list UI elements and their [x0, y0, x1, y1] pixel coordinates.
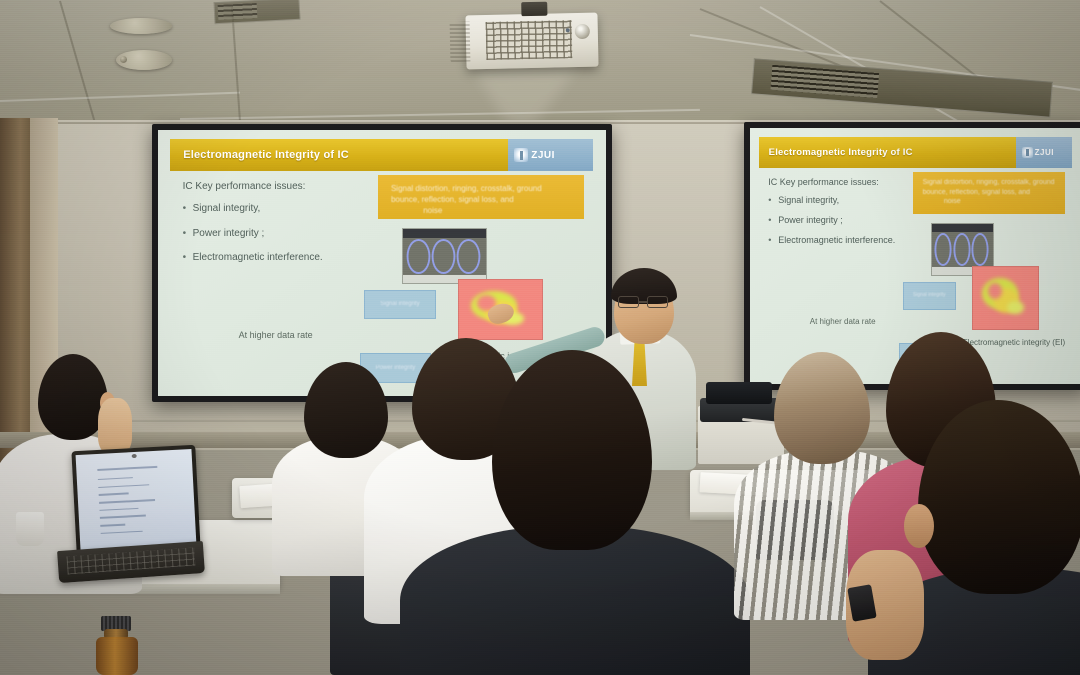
zjui-emblem-icon — [1022, 147, 1033, 158]
attendee-head — [774, 352, 870, 464]
laptop-screen — [76, 449, 197, 551]
label-box-signal-integrity: Signal integrity — [364, 290, 436, 319]
zjui-logo-text: ZJUI — [531, 150, 555, 161]
ceiling-projector — [465, 13, 598, 70]
laptop-webcam-icon — [131, 454, 136, 458]
emi-heatmap-thumbnail — [972, 266, 1038, 330]
sprinkler-head — [120, 56, 127, 63]
attendee-head — [304, 362, 388, 458]
zjui-logo-text: ZJUI — [1035, 148, 1054, 157]
slide-note-higher-rate: At higher data rate — [810, 317, 903, 327]
projector-status-led — [566, 28, 570, 32]
label-box-text: Signal integrity — [365, 291, 435, 318]
zjui-emblem-icon — [514, 148, 528, 162]
label-box-text: Signal integrity — [904, 283, 955, 309]
laptop-lid — [71, 445, 200, 555]
callout-line: Signal distortion, ringing, crosstalk, g… — [923, 178, 1056, 187]
projector-grille — [486, 20, 573, 60]
callout-line: bounce, reflection, signal loss, and — [923, 188, 1056, 197]
attendee-head — [492, 350, 652, 550]
presenter-glasses-icon — [618, 296, 668, 308]
slide-lead-text: IC Key performance issues: — [768, 177, 914, 187]
slide-bullet-item: Power integrity ; — [183, 228, 380, 241]
projector-vent-side — [450, 21, 471, 61]
eye-diagram-thumbnail — [402, 228, 487, 284]
slide-bullet-list: Signal integrity, Power integrity ; Elec… — [183, 203, 380, 264]
projector-lens-icon — [575, 24, 590, 39]
projector-mount — [521, 2, 547, 17]
slide-bullet-item: Power integrity ; — [768, 215, 914, 226]
slide-callout-box: Signal distortion, ringing, crosstalk, g… — [378, 175, 584, 219]
attendee-foreground-dark — [442, 350, 702, 675]
callout-line: noise — [391, 206, 570, 217]
slide-bullet-item: Signal integrity, — [183, 203, 380, 216]
bottle — [96, 637, 138, 675]
attendee-right-front — [898, 400, 1080, 675]
ceiling-vent-left — [213, 0, 300, 24]
slide-lead-text: IC Key performance issues: — [183, 181, 380, 192]
callout-line: noise — [923, 197, 1056, 206]
slide-title-bar: Electromagnetic Integrity of IC ZJUI — [170, 139, 593, 171]
callout-line: bounce, reflection, signal loss, and — [391, 195, 570, 206]
slide-body-left: IC Key performance issues: Signal integr… — [768, 177, 914, 256]
slide-callout-box: Signal distortion, ringing, crosstalk, g… — [913, 172, 1066, 214]
slide-title-bar: Electromagnetic Integrity of IC ZJUI — [759, 137, 1073, 168]
label-box-signal-integrity: Signal integrity — [903, 282, 956, 310]
paper-cup — [16, 512, 44, 546]
slide-bullet-item: Electromagnetic interference. — [183, 252, 380, 265]
ceiling-vent-right — [751, 58, 1053, 117]
slide-title: Electromagnetic Integrity of IC — [170, 149, 349, 161]
callout-line: Signal distortion, ringing, crosstalk, g… — [391, 184, 570, 195]
slide-note-higher-rate: At higher data rate — [239, 330, 355, 342]
zjui-logo: ZJUI — [1016, 137, 1072, 168]
slide-bullet-list: Signal integrity, Power integrity ; Elec… — [768, 195, 914, 246]
slide-body-left: IC Key performance issues: Signal integr… — [183, 181, 380, 277]
slide-bullet-item: Electromagnetic interference. — [768, 235, 914, 246]
ceiling-light-dome — [110, 18, 172, 34]
attendee-head — [918, 400, 1080, 594]
slide-bullet-item: Signal integrity, — [768, 195, 914, 206]
lecture-hall-photo: Electromagnetic Integrity of IC ZJUI IC … — [0, 0, 1080, 675]
zjui-logo: ZJUI — [508, 139, 593, 171]
attendee-hand-raised — [98, 398, 132, 454]
attendee-ear — [904, 504, 934, 548]
slide-title: Electromagnetic Integrity of IC — [759, 147, 913, 158]
